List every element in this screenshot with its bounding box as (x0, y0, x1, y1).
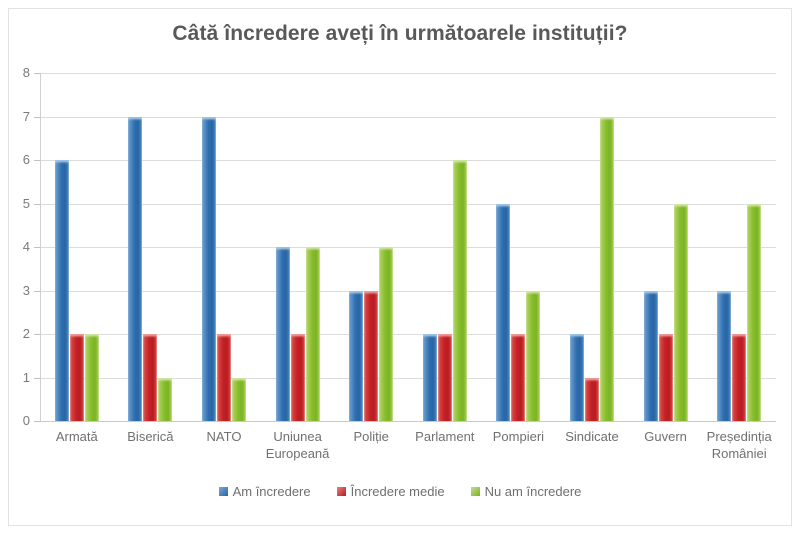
bar (158, 378, 172, 422)
y-tick-label-7: 7 (0, 109, 30, 124)
bar-highlight (453, 160, 467, 164)
x-axis-label: Președinția României (702, 428, 776, 462)
legend-label: Încredere medie (351, 484, 445, 499)
bar-highlight (70, 334, 84, 338)
bar-highlight (55, 160, 69, 164)
x-axis-label: NATO (187, 428, 261, 445)
bar (70, 334, 84, 421)
chart-container: Câtă încredere aveți în următoarele inst… (0, 0, 800, 534)
x-axis-label: Uniunea Europeană (261, 428, 335, 462)
x-axis-label: Armată (40, 428, 114, 445)
bar-highlight (674, 204, 688, 208)
bar (217, 334, 231, 421)
bar (600, 117, 614, 422)
x-axis-labels: ArmatăBisericăNATOUniunea EuropeanăPoliț… (40, 428, 776, 474)
bar (128, 117, 142, 422)
legend-swatch-icon (471, 487, 480, 496)
y-tick-label-5: 5 (0, 196, 30, 211)
legend-item[interactable]: Încredere medie (337, 484, 445, 499)
bar-highlight (644, 291, 658, 295)
x-axis-label: Sindicate (555, 428, 629, 445)
y-tick-label-4: 4 (0, 239, 30, 254)
y-tick-label-1: 1 (0, 370, 30, 385)
x-axis-label: Biserică (114, 428, 188, 445)
chart-legend: Am încredereÎncredere medieNu am încrede… (0, 484, 800, 499)
legend-label: Am încredere (233, 484, 311, 499)
y-tick-label-6: 6 (0, 152, 30, 167)
bar-highlight (158, 378, 172, 382)
bar (379, 247, 393, 421)
bar-highlight (306, 247, 320, 251)
x-axis-baseline (40, 421, 776, 422)
bar (585, 378, 599, 422)
bar-highlight (128, 117, 142, 121)
bar (659, 334, 673, 421)
bar-highlight (276, 247, 290, 251)
bar-highlight (438, 334, 452, 338)
bar (349, 291, 363, 422)
y-tick-label-8: 8 (0, 65, 30, 80)
bar (438, 334, 452, 421)
bar-highlight (202, 117, 216, 121)
bar-highlight (291, 334, 305, 338)
bar (423, 334, 437, 421)
bar (364, 291, 378, 422)
bar (732, 334, 746, 421)
bar (143, 334, 157, 421)
legend-item[interactable]: Am încredere (219, 484, 311, 499)
bar (55, 160, 69, 421)
bar-highlight (143, 334, 157, 338)
y-tick-label-2: 2 (0, 326, 30, 341)
x-axis-label: Pompieri (482, 428, 556, 445)
bar (496, 204, 510, 422)
bar (674, 204, 688, 422)
bar (526, 291, 540, 422)
bar (747, 204, 761, 422)
bar (202, 117, 216, 422)
bar (291, 334, 305, 421)
bar (276, 247, 290, 421)
legend-label: Nu am încredere (485, 484, 582, 499)
bar-highlight (526, 291, 540, 295)
bar (85, 334, 99, 421)
bar-highlight (349, 291, 363, 295)
legend-swatch-icon (337, 487, 346, 496)
y-tick-label-0: 0 (0, 413, 30, 428)
bar (306, 247, 320, 421)
bar-highlight (232, 378, 246, 382)
bar-highlight (85, 334, 99, 338)
legend-swatch-icon (219, 487, 228, 496)
bar (717, 291, 731, 422)
bar-highlight (511, 334, 525, 338)
bar-highlight (732, 334, 746, 338)
bar-highlight (600, 117, 614, 121)
bar-highlight (217, 334, 231, 338)
bars-layer (40, 73, 776, 421)
bar-highlight (364, 291, 378, 295)
bar (570, 334, 584, 421)
bar (511, 334, 525, 421)
x-axis-label: Parlament (408, 428, 482, 445)
bar (453, 160, 467, 421)
chart-title: Câtă încredere aveți în următoarele inst… (0, 22, 800, 46)
bar-highlight (423, 334, 437, 338)
x-axis-label: Poliție (334, 428, 408, 445)
x-axis-label: Guvern (629, 428, 703, 445)
bar (644, 291, 658, 422)
legend-item[interactable]: Nu am încredere (471, 484, 582, 499)
y-tick-label-3: 3 (0, 283, 30, 298)
y-tick-0 (34, 421, 40, 422)
bar-highlight (717, 291, 731, 295)
bar-highlight (585, 378, 599, 382)
bar (232, 378, 246, 422)
bar-highlight (659, 334, 673, 338)
bar-highlight (496, 204, 510, 208)
bar-highlight (747, 204, 761, 208)
bar-highlight (379, 247, 393, 251)
bar-highlight (570, 334, 584, 338)
